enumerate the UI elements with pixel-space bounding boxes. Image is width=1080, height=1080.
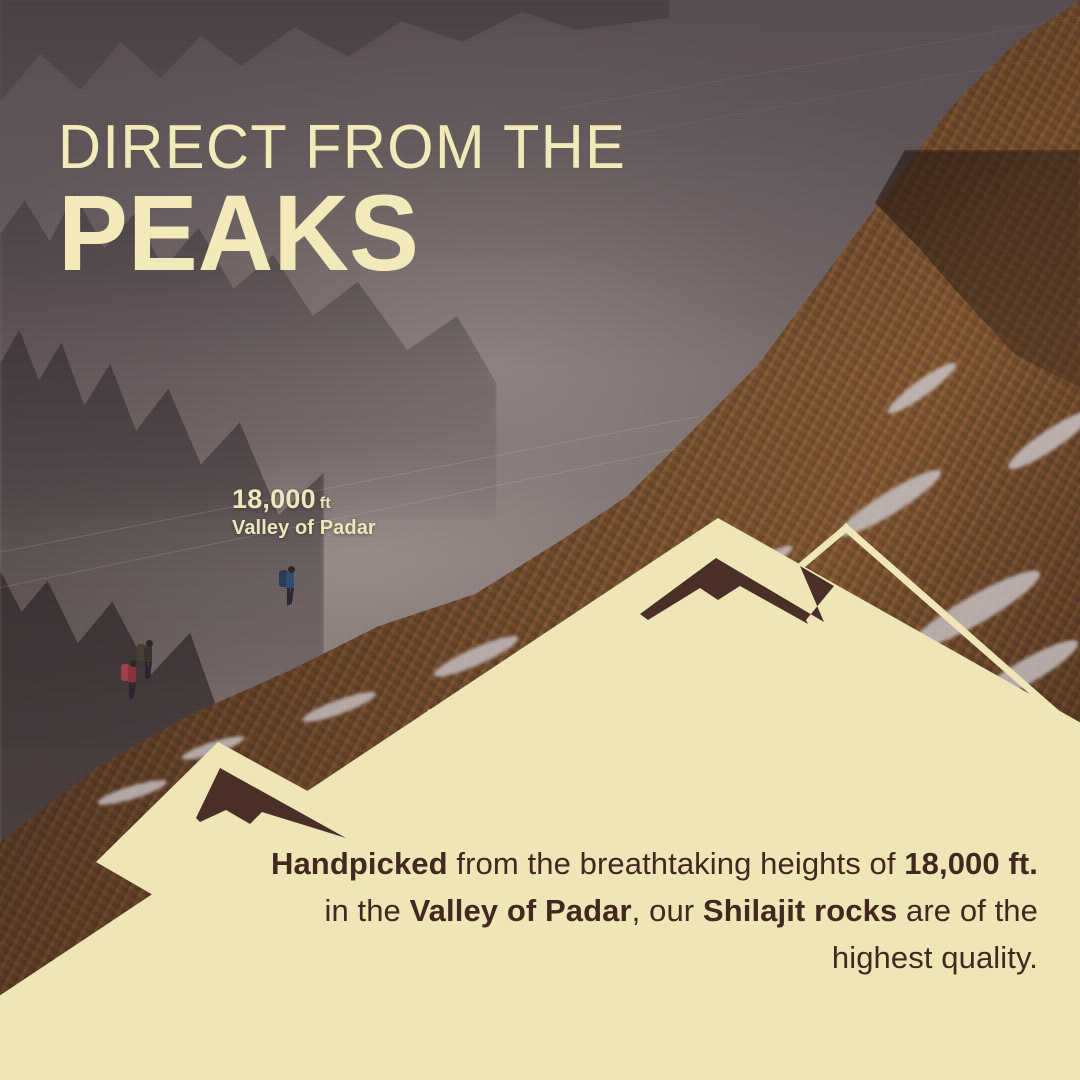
blurb-segment-1: from the breathtaking heights of xyxy=(448,846,905,881)
altitude-location: Valley of Padar xyxy=(232,517,376,540)
blurb-segment-2: 18,000 ft. xyxy=(904,846,1038,881)
blurb-segment-4: Valley of Padar xyxy=(410,893,632,928)
headline-block: DIRECT FROM THE PEAKS xyxy=(58,118,650,282)
blurb-paragraph: Handpicked from the breathtaking heights… xyxy=(270,840,1060,981)
blurb-segment-5: , our xyxy=(632,893,703,928)
altitude-value-row: 18,000ft xyxy=(232,486,376,513)
altitude-value: 18,000 xyxy=(232,484,316,514)
blurb-segment-6: Shilajit rocks xyxy=(703,893,897,928)
blurb-segment-0: Handpicked xyxy=(271,846,448,881)
altitude-unit: ft xyxy=(320,495,331,512)
blurb-segment-3: in the xyxy=(324,893,409,928)
poster-canvas: DIRECT FROM THE PEAKS 18,000ft Valley of… xyxy=(0,0,1080,1080)
headline-line-1: DIRECT FROM THE xyxy=(58,118,626,179)
headline-line-2: PEAKS xyxy=(58,183,632,282)
altitude-callout: 18,000ft Valley of Padar xyxy=(232,486,376,540)
